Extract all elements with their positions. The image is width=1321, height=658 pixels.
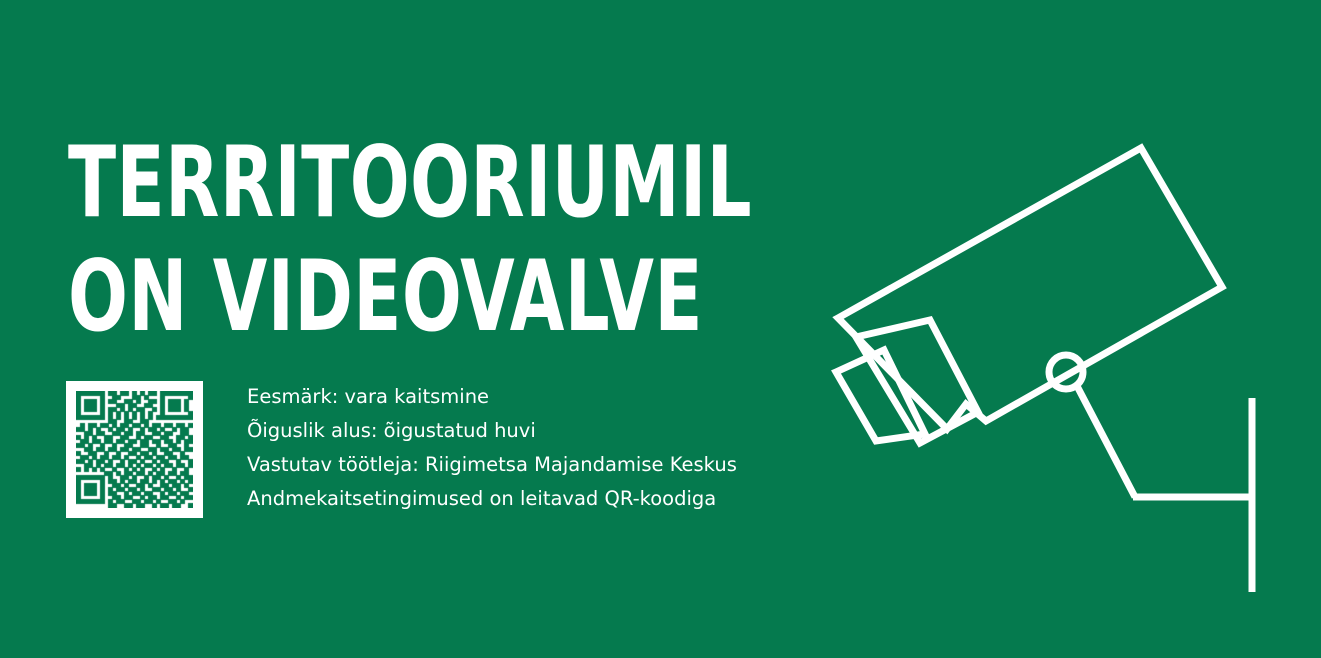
camera-pivot-joint [1049,355,1083,389]
info-line-purpose: Eesmärk: vara kaitsmine [247,380,737,414]
info-line-qr-hint: Andmekaitsetingimused on leitavad QR-koo… [247,482,737,516]
camera-mount-arm [1077,386,1135,497]
qr-code-matrix [76,391,193,508]
info-line-controller: Vastutav töötleja: Riigimetsa Majandamis… [247,448,737,482]
video-surveillance-sign: TERRITOORIUMIL ON VIDEOVALVE Eesmärk: va… [0,0,1321,658]
page-title: TERRITOORIUMIL ON VIDEOVALVE [68,126,752,354]
info-line-legal-basis: Õiguslik alus: õigustatud huvi [247,414,737,448]
headline-line-2: ON VIDEOVALVE [68,240,752,354]
camera-lens-cap-shape [836,350,925,441]
camera-body-shape [838,148,1222,429]
info-text-block: Eesmärk: vara kaitsmine Õiguslik alus: õ… [247,380,737,516]
headline-line-1: TERRITOORIUMIL [68,126,752,240]
camera-lens-hood-shape [856,320,978,443]
qr-code[interactable] [66,381,203,518]
